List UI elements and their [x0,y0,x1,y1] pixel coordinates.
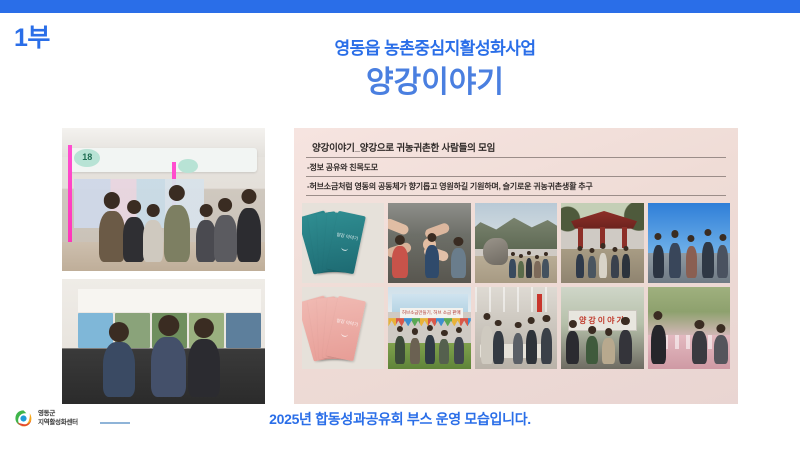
photo-grid: 양강 이야기 [302,203,730,369]
slide-caption: 2025년 합동성과공유회 부스 운영 모습입니다. [0,409,800,429]
title-block: 영동읍 농촌중심지활성화사업 양강이야기 [195,38,675,99]
footer-logo-text: 영동군 지역활성화센터 [38,410,78,428]
booth-scene-art: 18 [62,128,265,271]
footer-logo-line2: 지역활성화센터 [38,419,78,426]
booth-number-label: 18 [82,152,92,162]
left-photo-column: 18 [62,128,265,404]
red-banner-group-photo: 양강이야기 [561,287,643,369]
section-label: 1부 [14,26,50,51]
brochure-label-teal: 양강 이야기 [335,233,358,243]
market-booth-photo [648,287,730,369]
outdoor-banner-event-photo: 허브소금만들기, 허브 소금 판매 [388,287,470,369]
footer-divider-rule [100,422,130,424]
info-text-block: 양강이야기_양강으로 귀농귀촌한 사람들의 모임 -정보 공유와 친목도모 -허… [302,135,730,196]
page-subtitle: 영동읍 농촌중심지활성화사업 [195,38,675,59]
info-line-2: -허브소금처럼 영동의 공동체가 향기롭고 영원하길 기원하며, 슬기로운 귀농… [306,177,726,196]
indoor-booth-art [62,279,265,404]
slide-root: 1부 영동읍 농촌중심지활성화사업 양강이야기 18 [0,0,800,450]
top-accent-bar [0,0,800,13]
event-banner-text: 허브소금만들기, 허브 소금 판매 [400,308,463,319]
footer-logo-line1: 영동군 [38,410,55,417]
bluesky-group-photo [648,203,730,283]
footer-logo: 영동군 지역활성화센터 [14,409,78,428]
pink-brochure-fan-photo: 양강 이야기 [302,287,384,369]
info-and-gallery-panel: 양강이야기_양강으로 귀농귀촌한 사람들의 모임 -정보 공유와 친목도모 -허… [294,128,738,404]
page-title: 양강이야기 [195,66,675,99]
teal-brochure-fan-photo: 양강 이야기 [302,203,384,283]
booth-exhibition-wide-photo: 18 [62,128,265,271]
info-headline: 양강이야기_양강으로 귀농귀촌한 사람들의 모임 [306,138,726,158]
brochure-label-pink: 양강 이야기 [335,317,358,327]
indoor-workshop-photo [475,287,557,369]
booth-visitors-closeup-photo [62,279,265,404]
yeongdong-swirl-icon [14,409,33,428]
hands-together-photo [388,203,470,283]
mountain-group-photo [475,203,557,283]
info-line-1: -정보 공유와 친목도모 [306,158,726,177]
pavilion-group-photo [561,203,643,283]
